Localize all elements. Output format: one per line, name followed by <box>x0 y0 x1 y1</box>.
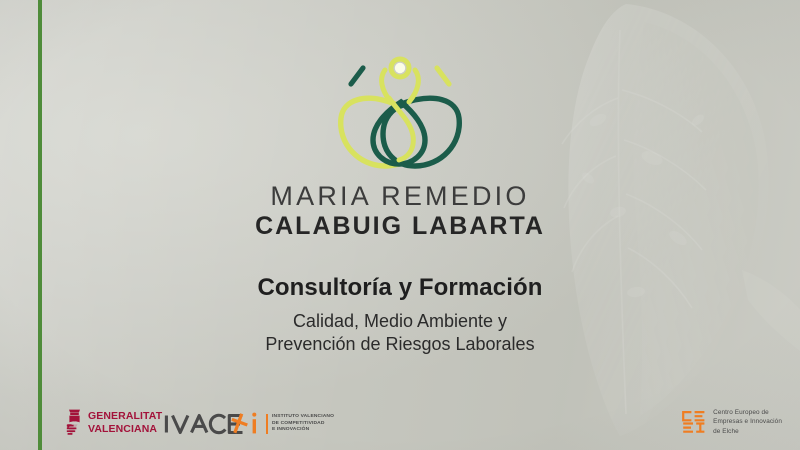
senyera-crest-icon <box>66 409 83 436</box>
brand-name-first: MARIA REMEDIO <box>0 182 800 211</box>
page-title: Consultoría y Formación <box>0 274 800 303</box>
brand-name-second: CALABUIG LABARTA <box>0 211 800 242</box>
ivace-subtitle-line-1: INSTITUTO VALENCIANO <box>272 414 334 421</box>
generalitat-line-2: VALENCIANA <box>88 423 162 435</box>
footer-logo-strip: GENERALITAT VALENCIANA <box>0 380 800 450</box>
page-subtitle-line-2: Prevención de Riesgos Laborales <box>0 333 800 356</box>
generalitat-wordmark: GENERALITAT VALENCIANA <box>88 410 162 435</box>
logo-generalitat-valenciana: GENERALITAT VALENCIANA <box>66 409 162 436</box>
page-subtitle-line-1: Calidad, Medio Ambiente y <box>0 310 800 333</box>
ceei-subtitle-line-1: Centro Europeo de <box>713 408 782 417</box>
presentation-slide: MARIA REMEDIO CALABUIG LABARTA Consultor… <box>0 0 800 450</box>
ceei-subtitle-line-3: de Elche <box>713 427 782 436</box>
ceei-mark-icon <box>681 410 707 434</box>
headline-block: Consultoría y Formación Calidad, Medio A… <box>0 274 800 357</box>
ceei-subtitle: Centro Europeo de Empresas e Innovación … <box>713 408 782 436</box>
ivace-subtitle-line-3: E INNOVACIÓN <box>272 427 334 434</box>
generalitat-line-1: GENERALITAT <box>88 410 162 422</box>
ivace-wordmark-icon <box>163 411 261 437</box>
ivace-subtitle: INSTITUTO VALENCIANO DE COMPETITIVIDAD E… <box>266 414 334 435</box>
brand-logo-icon <box>315 56 485 176</box>
logo-ivace: INSTITUTO VALENCIANO DE COMPETITIVIDAD E… <box>163 411 334 437</box>
logo-ceei-elche: Centro Europeo de Empresas e Innovación … <box>681 408 782 436</box>
page-subtitle: Calidad, Medio Ambiente y Prevención de … <box>0 310 800 357</box>
ceei-subtitle-line-2: Empresas e Innovación <box>713 417 782 426</box>
brand-wordmark: MARIA REMEDIO CALABUIG LABARTA <box>0 182 800 242</box>
